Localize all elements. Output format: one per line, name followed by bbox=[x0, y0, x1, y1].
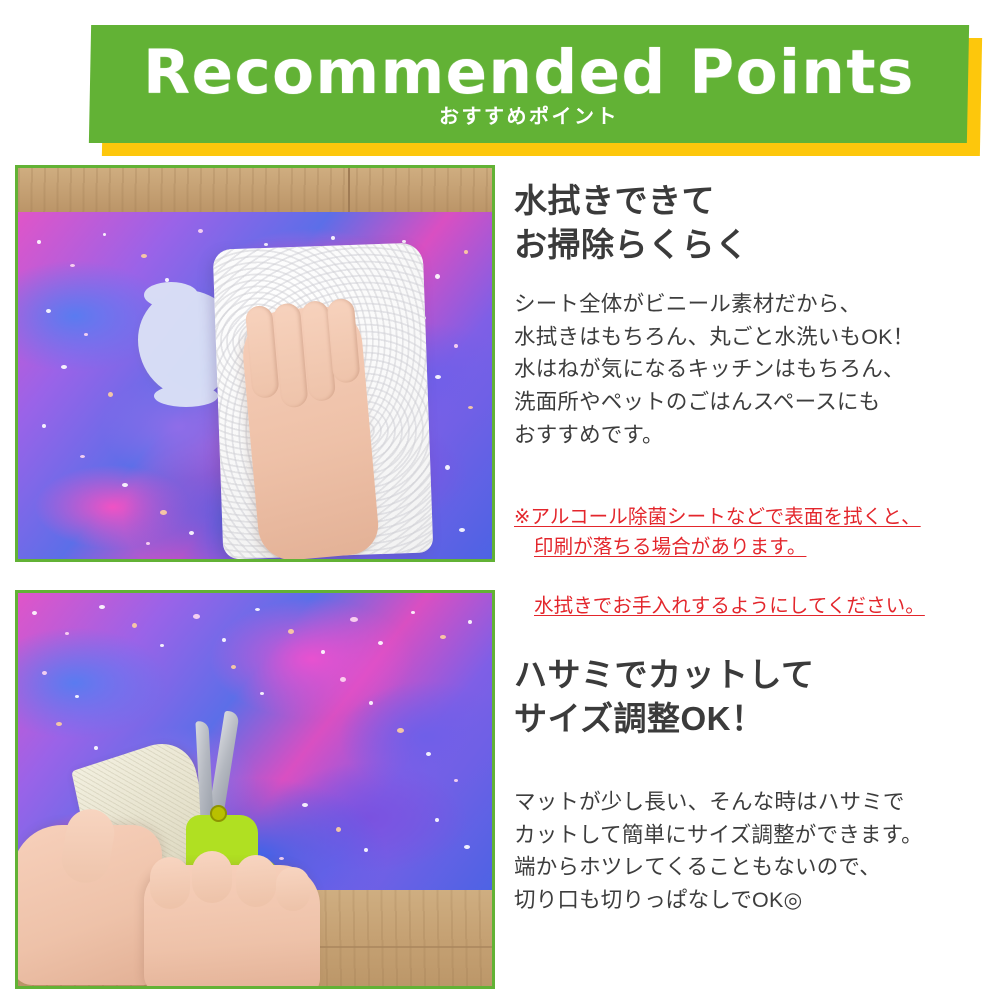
banner-green-block: Recommended Points おすすめポイント bbox=[89, 25, 969, 143]
hand-wiping bbox=[239, 303, 380, 562]
header-banner: Recommended Points おすすめポイント bbox=[0, 0, 1000, 165]
hand-holding-scissors bbox=[144, 865, 320, 989]
page-root: Recommended Points おすすめポイント bbox=[0, 0, 1000, 1000]
section-scissor-cut: ハサミでカットして サイズ調整OK！ マットが少し長い、そんな時はハサミで カッ… bbox=[0, 590, 1000, 990]
section-body: マットが少し長い、そんな時はハサミで カットして簡単にサイズ調整ができます。 端… bbox=[514, 740, 992, 917]
scissors-pivot-screw bbox=[210, 805, 227, 822]
text-column-scissor-cut: ハサミでカットして サイズ調整OK！ マットが少し長い、そんな時はハサミで カッ… bbox=[514, 590, 992, 917]
caution-line-1: ※アルコール除菌シートなどで表面を拭くと、 bbox=[514, 506, 921, 528]
wood-plank-seam bbox=[348, 168, 350, 212]
wood-floor-strip bbox=[18, 168, 492, 213]
section-heading: ハサミでカットして サイズ調整OK！ bbox=[514, 590, 992, 740]
banner-subtitle: おすすめポイント bbox=[90, 107, 968, 127]
text-column-water-wipe: 水拭きできて お掃除らくらく シート全体がビニール素材だから、 水拭きはもちろん… bbox=[514, 165, 992, 651]
section-body: シート全体がビニール素材だから、 水拭きはもちろん、丸ごと水洗いもOK！ 水はね… bbox=[514, 266, 992, 451]
section-water-wipe: 水拭きできて お掃除らくらく シート全体がビニール素材だから、 水拭きはもちろん… bbox=[0, 165, 1000, 575]
hand-holding-mat bbox=[15, 825, 162, 985]
caution-line-2: 印刷が落ちる場合があります。 bbox=[514, 533, 992, 563]
section-heading: 水拭きできて お掃除らくらく bbox=[514, 165, 992, 266]
banner-title: Recommended Points bbox=[90, 42, 968, 103]
photo-water-wipe bbox=[15, 165, 495, 562]
photo-scissor-cut bbox=[15, 590, 495, 989]
